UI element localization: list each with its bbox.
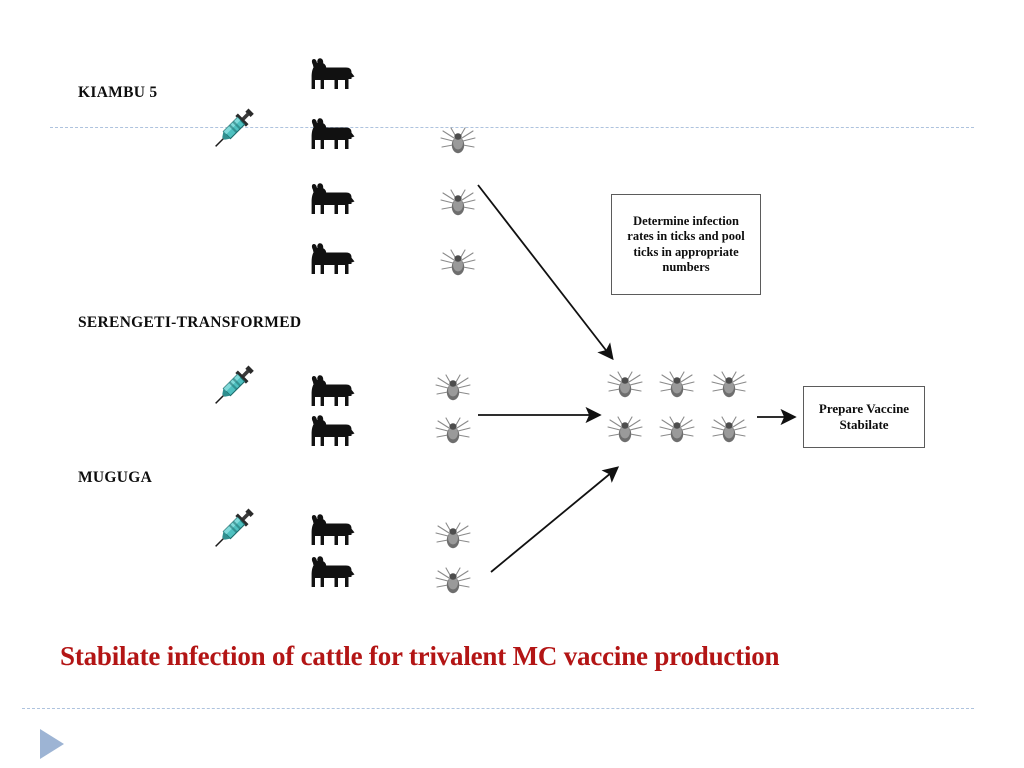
next-slide-button[interactable] xyxy=(40,729,64,759)
arrow-muguga-ticks-to-pool xyxy=(491,468,617,572)
arrow-kiambu-ticks-to-determine xyxy=(478,185,612,358)
page-title: Stabilate infection of cattle for trival… xyxy=(60,641,779,672)
slide-canvas: KIAMBU 5 xyxy=(0,0,1024,768)
determine-infection-rates-box: Determine infection rates in ticks and p… xyxy=(611,194,761,295)
prepare-vaccine-stabilate-box: Prepare Vaccine Stabilate xyxy=(803,386,925,448)
